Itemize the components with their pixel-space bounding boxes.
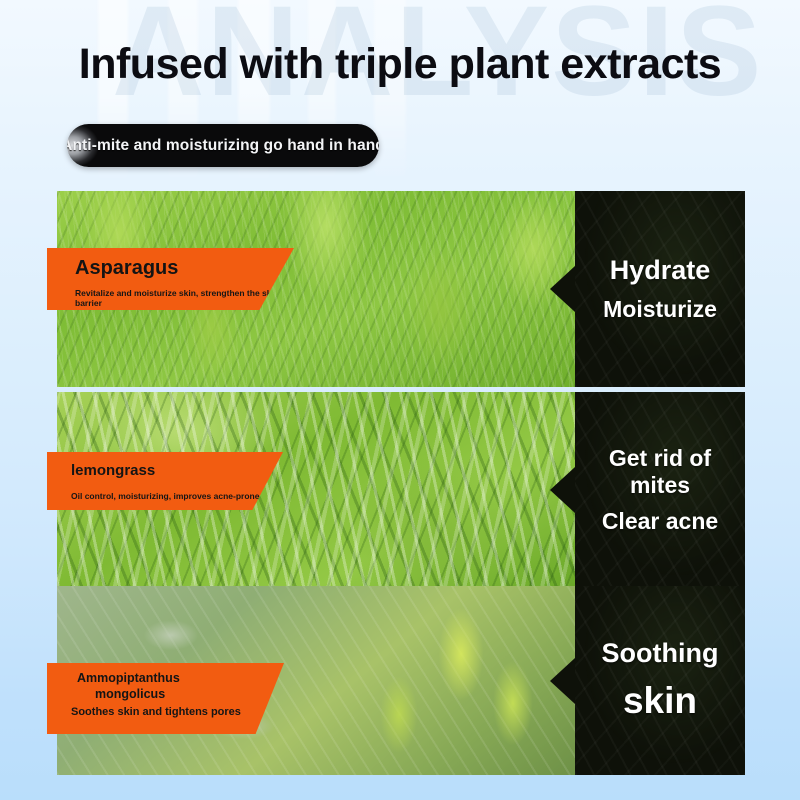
ingredient-name: Ammopiptanthus mongolicus [47,672,284,702]
benefit-line-3: Clear acne [602,508,718,535]
tagline-pill: Anti-mite and moisturizing go hand in ha… [67,124,379,167]
benefit-line-2: mites [630,472,690,499]
ingredient-tag-ammopiptanthus: Ammopiptanthus mongolicus Soothes skin a… [47,663,284,734]
benefit-line-1: Hydrate [610,255,711,286]
chevron-left-icon [550,266,575,312]
benefit-line-2: skin [623,680,697,723]
ingredient-description: Oil control, moisturizing, improves acne… [47,480,283,501]
ingredient-name-line2: mongolicus [77,686,284,702]
ingredient-name: lemongrass [47,461,283,480]
benefit-panel-asparagus: Hydrate Moisturize [575,191,745,387]
chevron-left-icon [550,467,575,513]
ingredient-tag-lemongrass: lemongrass Oil control, moisturizing, im… [47,452,283,510]
benefit-line-1: Get rid of [609,445,711,472]
benefit-line-1: Soothing [602,638,719,669]
benefit-line-2: Moisturize [603,296,717,323]
ingredient-tag-asparagus: Asparagus Revitalize and moisturize skin… [47,248,294,310]
page-title: Infused with triple plant extracts [0,40,800,89]
ingredient-name: Asparagus [47,257,294,279]
chevron-left-icon [550,658,575,704]
ingredient-name-line1: Ammopiptanthus [77,671,180,685]
tagline-text: Anti-mite and moisturizing go hand in ha… [67,137,379,155]
ingredient-row-asparagus: Hydrate Moisturize Asparagus Revitalize … [57,191,745,387]
ingredient-description: Revitalize and moisturize skin, strength… [47,279,294,308]
benefit-panel-ammopiptanthus: Soothing skin [575,586,745,775]
benefit-panel-lemongrass: Get rid of mites Clear acne [575,392,745,588]
ingredient-row-ammopiptanthus: Soothing skin Ammopiptanthus mongolicus … [57,586,745,775]
ingredient-row-lemongrass: Get rid of mites Clear acne lemongrass O… [57,392,745,588]
ingredient-description: Soothes skin and tightens pores [47,702,284,719]
